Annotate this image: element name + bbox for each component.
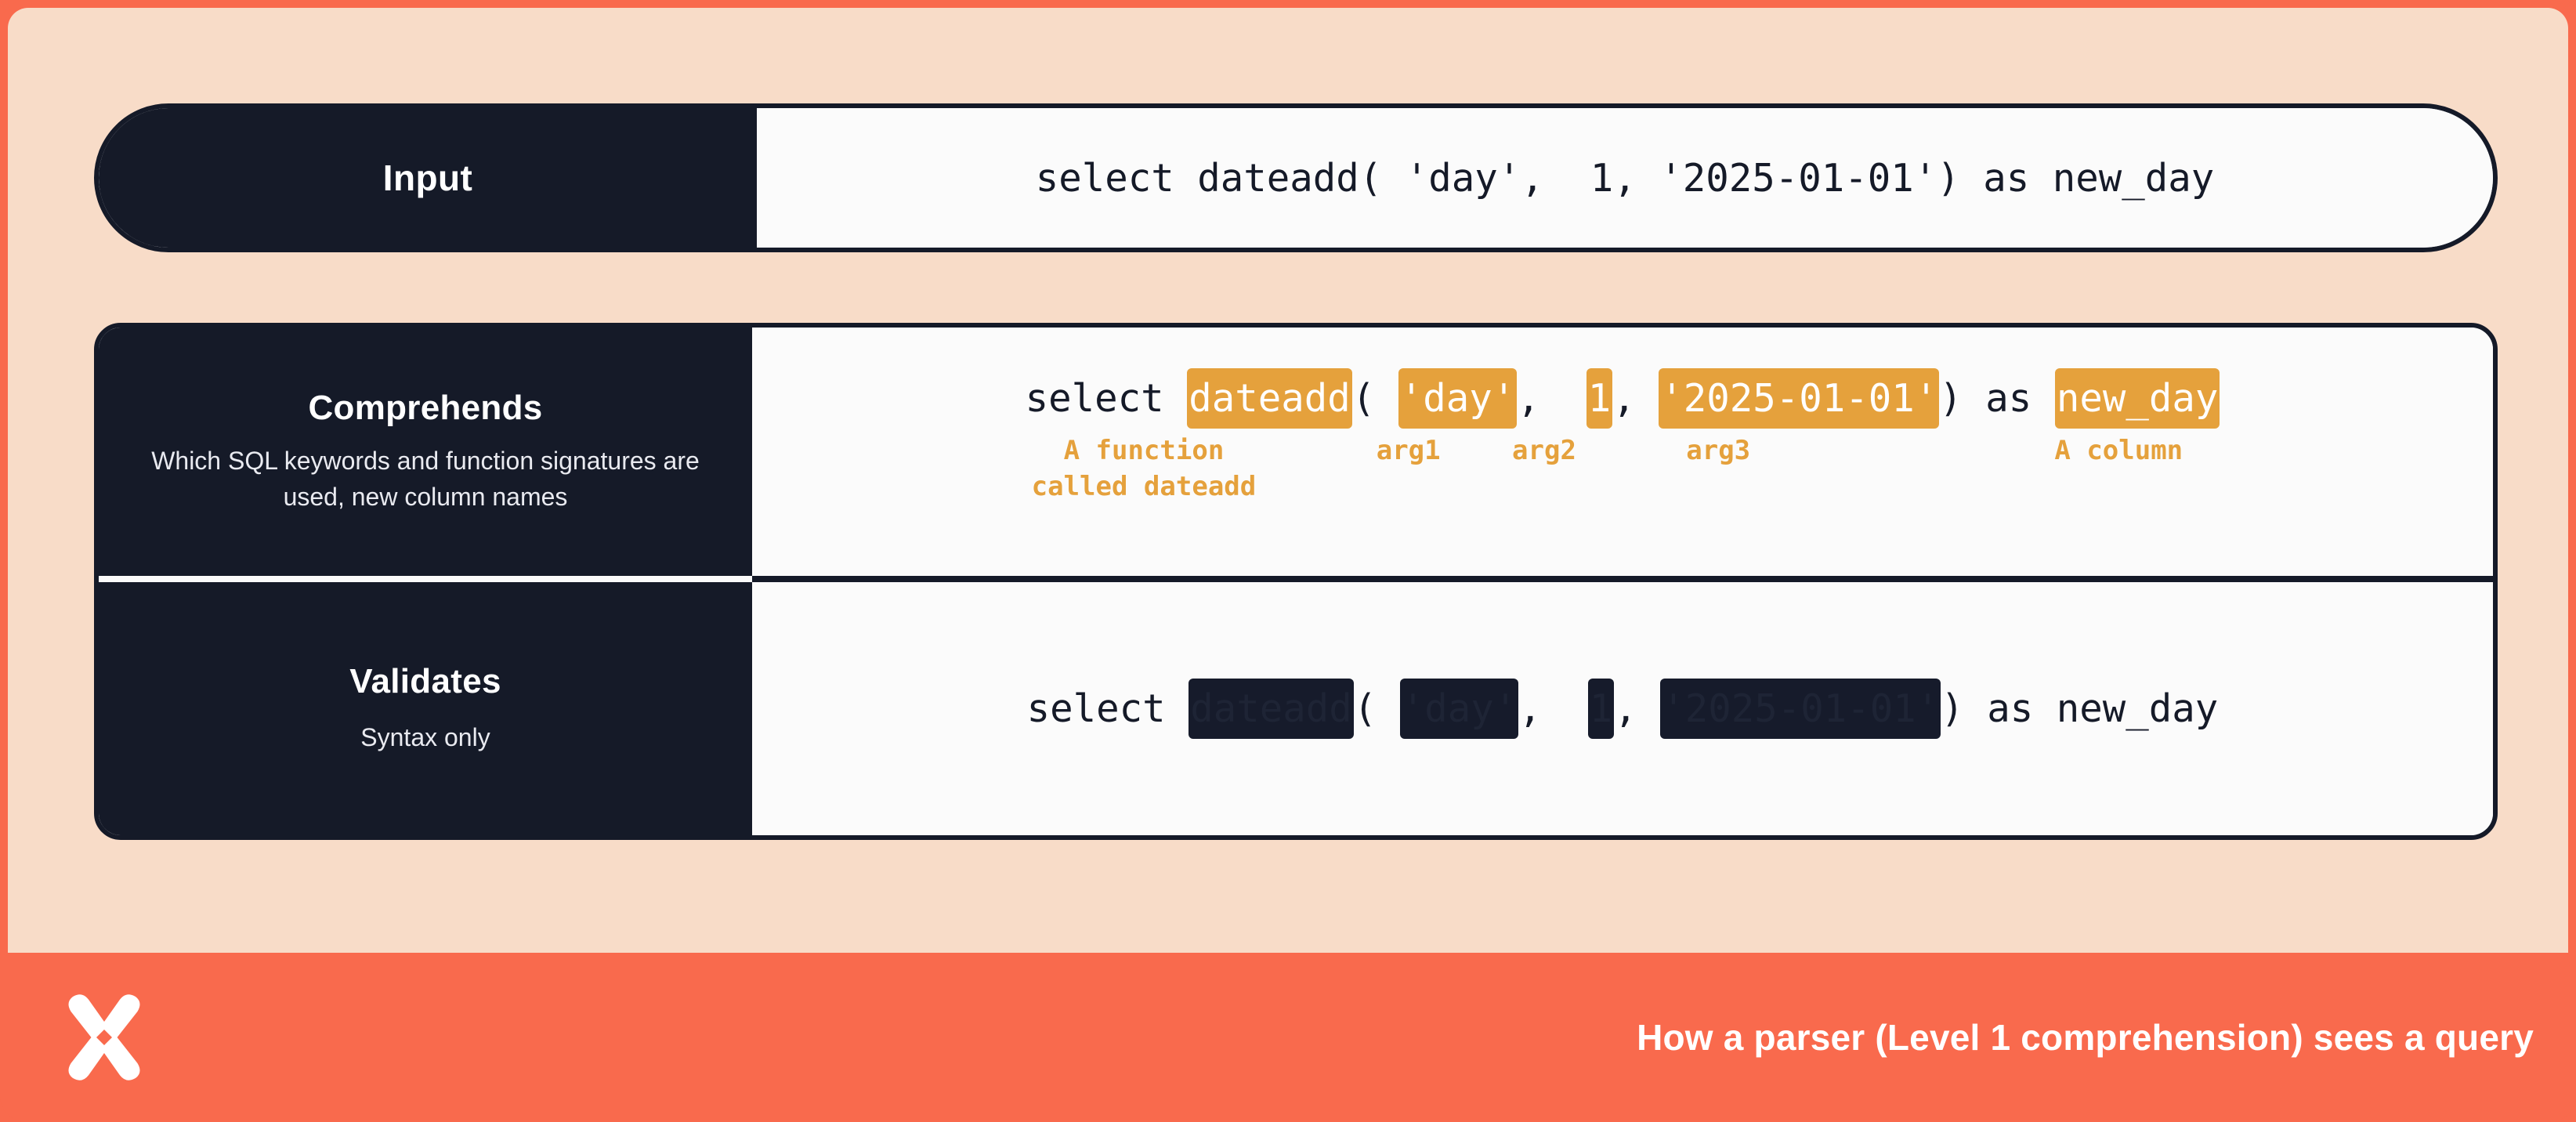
code-token: , <box>1518 679 1588 739</box>
comprehends-code-line: select dateadd( 'day', 1, '2025-01-01') … <box>1026 368 2220 429</box>
token-annotation: A column <box>2054 433 2183 469</box>
code-token: select <box>1026 368 1188 429</box>
redacted-token: '2025-01-01' <box>1660 679 1941 739</box>
poster-body: Input select dateadd( 'day', 1, '2025-01… <box>8 8 2568 961</box>
comprehends-label-cell: Comprehends Which SQL keywords and funct… <box>99 328 752 576</box>
redacted-token: 'day' <box>1400 679 1519 739</box>
validates-title: Validates <box>349 662 501 701</box>
code-token: select <box>1027 679 1189 739</box>
input-label: Input <box>383 157 472 199</box>
highlighted-token: 1 <box>1586 368 1613 429</box>
redacted-token: 1 <box>1588 679 1615 739</box>
validates-code-cell: select dateadd( 'day', 1, '2025-01-01') … <box>752 582 2493 835</box>
token-annotation: arg3 <box>1686 433 1750 469</box>
comprehends-code-cell: select dateadd( 'day', 1, '2025-01-01') … <box>752 328 2493 576</box>
comprehends-subtitle: Which SQL keywords and function signatur… <box>151 443 700 515</box>
token-annotation: A function called dateadd <box>1032 433 1257 505</box>
parser-card: Comprehends Which SQL keywords and funct… <box>94 323 2498 840</box>
code-token: ) as <box>1939 368 2055 429</box>
comprehends-annotation-row: A function called dateaddarg1arg2arg3A c… <box>752 433 2493 535</box>
comprehends-row: Comprehends Which SQL keywords and funct… <box>99 328 2493 576</box>
divider-gap <box>99 576 752 582</box>
token-annotation: arg1 <box>1377 433 1441 469</box>
infographic-poster: Input select dateadd( 'day', 1, '2025-01… <box>0 0 2576 1122</box>
validates-subtitle: Syntax only <box>360 720 490 755</box>
code-token: , <box>1612 368 1659 429</box>
input-row: Input select dateadd( 'day', 1, '2025-01… <box>94 103 2498 252</box>
input-code-cell: select dateadd( 'day', 1, '2025-01-01') … <box>757 108 2493 248</box>
token-annotation: arg2 <box>1512 433 1576 469</box>
validates-label-cell: Validates Syntax only <box>99 582 752 835</box>
code-token: ( <box>1352 368 1398 429</box>
row-divider <box>99 576 2493 582</box>
highlighted-token: 'day' <box>1398 368 1518 429</box>
code-token: , <box>1517 368 1586 429</box>
highlighted-token: '2025-01-01' <box>1659 368 1939 429</box>
comprehends-title: Comprehends <box>308 389 542 428</box>
divider-line <box>752 576 2493 582</box>
highlighted-token: new_day <box>2055 368 2220 429</box>
validates-code-line: select dateadd( 'day', 1, '2025-01-01') … <box>1027 679 2219 739</box>
footer-bar: How a parser (Level 1 comprehension) see… <box>0 953 2576 1122</box>
validates-row: Validates Syntax only select dateadd( 'd… <box>99 582 2493 835</box>
code-token: , <box>1614 679 1660 739</box>
redacted-token: dateadd <box>1189 679 1354 739</box>
input-label-cell: Input <box>99 108 757 248</box>
highlighted-token: dateadd <box>1187 368 1352 429</box>
code-token: ( <box>1354 679 1400 739</box>
input-code-text: select dateadd( 'day', 1, '2025-01-01') … <box>1036 156 2215 201</box>
code-token: ) as new_day <box>1941 679 2218 739</box>
brand-x-logo-icon <box>58 991 150 1084</box>
footer-caption: How a parser (Level 1 comprehension) see… <box>1637 1016 2534 1059</box>
